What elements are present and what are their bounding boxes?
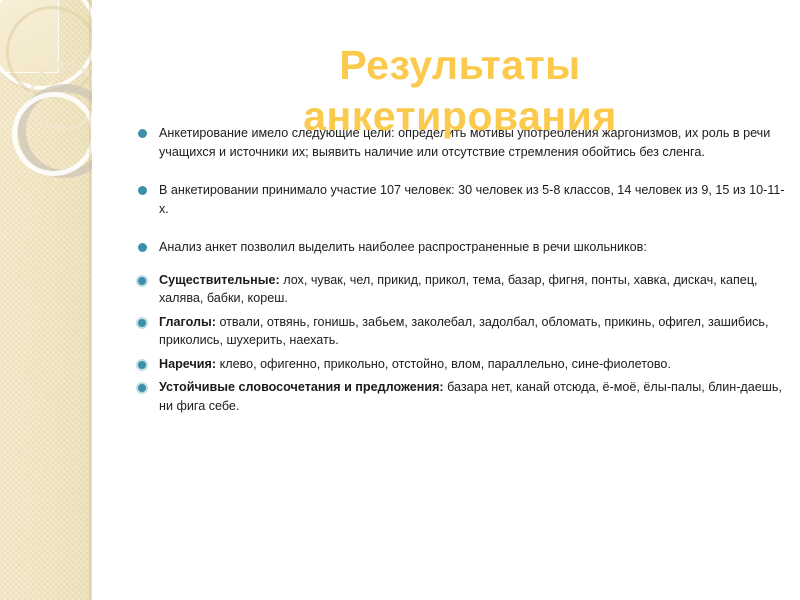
- bullet-dot-icon: [138, 129, 147, 138]
- bullet-dot-icon: [138, 243, 147, 252]
- slide-sidebar-decoration: [0, 0, 92, 600]
- list-item: Анкетирование имело следующие цели: опре…: [138, 124, 788, 161]
- slide-body: Анкетирование имело следующие цели: опре…: [138, 124, 788, 419]
- category-label: Глаголы:: [159, 315, 216, 329]
- bullet-dot-icon: [138, 186, 147, 195]
- category-line: Существительные: лох, чувак, чел, прикид…: [159, 271, 788, 308]
- bullet-text: В анкетировании принимало участие 107 че…: [159, 181, 788, 218]
- category-label: Наречия:: [159, 357, 216, 371]
- list-item-category-adverbs: Наречия: клево, офигенно, прикольно, отс…: [138, 355, 788, 374]
- bullet-dot-icon: [138, 319, 146, 327]
- presentation-slide: Результаты анкетирования Анкетирование и…: [0, 0, 800, 600]
- slide-title-line-1: Результаты: [339, 42, 580, 88]
- category-line: Глаголы: отвали, отвянь, гонишь, забьем,…: [159, 313, 788, 350]
- category-label: Существительные:: [159, 273, 280, 287]
- category-words: клево, офигенно, прикольно, отстойно, вл…: [220, 357, 671, 371]
- bullet-text: Анкетирование имело следующие цели: опре…: [159, 124, 788, 161]
- bullet-dot-icon: [138, 361, 146, 369]
- category-label: Устойчивые словосочетания и предложения:: [159, 380, 444, 394]
- list-item-category-nouns: Существительные: лох, чувак, чел, прикид…: [138, 271, 788, 308]
- list-item-category-verbs: Глаголы: отвали, отвянь, гонишь, забьем,…: [138, 313, 788, 350]
- bullet-dot-icon: [138, 384, 146, 392]
- category-words: отвали, отвянь, гонишь, забьем, заколеба…: [159, 315, 769, 348]
- category-line: Наречия: клево, офигенно, прикольно, отс…: [159, 355, 671, 374]
- list-item-category-phrases: Устойчивые словосочетания и предложения:…: [138, 378, 788, 415]
- sidebar-edge: [89, 0, 92, 600]
- bullet-dot-icon: [138, 277, 146, 285]
- decorative-ring-icon: [12, 92, 92, 176]
- category-line: Устойчивые словосочетания и предложения:…: [159, 378, 788, 415]
- list-item: Анализ анкет позволил выделить наиболее …: [138, 238, 788, 257]
- bullet-text: Анализ анкет позволил выделить наиболее …: [159, 238, 647, 257]
- list-item: В анкетировании принимало участие 107 че…: [138, 181, 788, 218]
